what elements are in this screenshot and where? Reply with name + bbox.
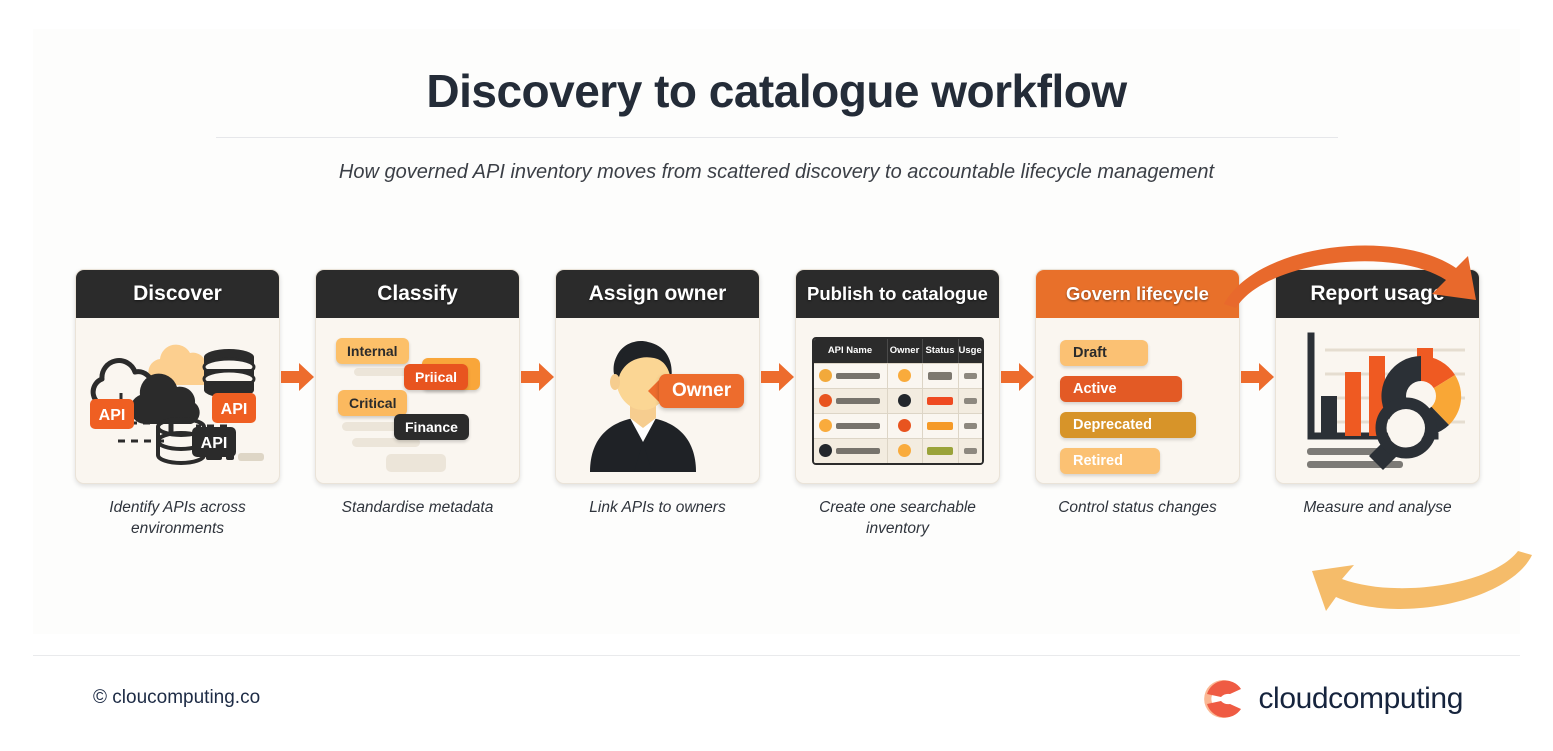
step-card: Govern lifecycle Draft Active Deprecated… (1035, 269, 1240, 484)
step-card: Assign owner (555, 269, 760, 484)
tag-placeholder (354, 368, 408, 376)
cell-owner (888, 439, 923, 463)
name-placeholder-bar (836, 398, 880, 404)
svg-text:API: API (200, 435, 227, 452)
owner-badge-group: Owner (648, 374, 744, 408)
arrow-right-icon (761, 362, 795, 392)
tag-finance[interactable]: Finance (394, 414, 469, 440)
connector-1 (280, 269, 315, 484)
tag-internal[interactable]: Internal (336, 338, 409, 364)
step-card: Classify Internal Priical Critical Finan… (315, 269, 520, 484)
usage-bar (964, 398, 977, 404)
avatar (898, 394, 911, 407)
step-govern-lifecycle: Govern lifecycle Draft Active Deprecated… (1035, 269, 1240, 519)
metadata-tags-icon: Internal Priical Critical Finance (324, 326, 511, 475)
workflow-steps: Discover (75, 269, 1480, 589)
step-discover: Discover (75, 269, 280, 540)
usage-bar (964, 423, 977, 429)
footer-divider (33, 655, 1520, 656)
logo-wordmark: cloudcomputing (1258, 682, 1463, 716)
step-illustration: API Name Owner Status Usge (796, 318, 999, 483)
column-header-owner: Owner (888, 339, 923, 363)
cell-usage (959, 389, 982, 413)
brand-logo: cloudcomputing (1197, 675, 1463, 723)
step-caption: Standardise metadata (315, 498, 520, 519)
status-badge (927, 422, 953, 430)
tag-critical[interactable]: Critical (338, 390, 407, 416)
title-divider (216, 137, 1338, 138)
usage-bar (964, 448, 977, 454)
step-illustration: API API API (76, 318, 279, 483)
status-badge (927, 447, 953, 455)
cell-api-name (814, 389, 888, 413)
cell-usage (959, 414, 982, 438)
lifecycle-status-icon: Draft Active Deprecated Retired (1044, 326, 1231, 475)
svg-text:API: API (98, 407, 125, 424)
cell-status (923, 389, 959, 413)
avatar (898, 419, 911, 432)
connector-4 (1000, 269, 1035, 484)
arrow-right-icon (1241, 362, 1275, 392)
step-card: Publish to catalogue API Name Owner Stat… (795, 269, 1000, 484)
step-title: Discover (76, 270, 279, 318)
column-header-status: Status (923, 339, 959, 363)
step-caption: Identify APIs across environments (75, 498, 280, 540)
status-dot (819, 394, 832, 407)
step-illustration: Internal Priical Critical Finance (316, 318, 519, 483)
tag-priical[interactable]: Priical (404, 364, 468, 390)
avatar (898, 369, 911, 382)
status-badge (928, 372, 952, 380)
analytics-chart-magnifier-icon (1285, 328, 1471, 474)
name-placeholder-bar (836, 373, 880, 379)
cell-api-name (814, 439, 888, 463)
lifecycle-bar-active[interactable]: Active (1060, 376, 1182, 402)
forward-loop-arrow (1218, 234, 1508, 314)
table-row[interactable] (814, 388, 982, 413)
step-classify: Classify Internal Priical Critical Finan… (315, 269, 520, 519)
table-row[interactable] (814, 413, 982, 438)
step-caption: Measure and analyse (1275, 498, 1480, 519)
cell-api-name (814, 414, 888, 438)
table-header-row: API Name Owner Status Usge (814, 339, 982, 363)
step-illustration (1276, 318, 1479, 483)
copyright-text: © cloucomputing.co (93, 687, 260, 709)
step-card: Discover (75, 269, 280, 484)
status-dot (819, 419, 832, 432)
tag-placeholder (386, 454, 446, 472)
step-illustration: Owner (556, 318, 759, 483)
name-placeholder-bar (836, 423, 880, 429)
usage-bar (964, 373, 977, 379)
step-title: Classify (316, 270, 519, 318)
content-panel: Discovery to catalogue workflow How gove… (33, 29, 1520, 634)
cell-status (923, 439, 959, 463)
column-header-api-name: API Name (814, 339, 888, 363)
catalogue-table-icon: API Name Owner Status Usge (812, 337, 984, 465)
cloud-database-api-icon: API API API (88, 331, 268, 471)
svg-text:API: API (220, 401, 247, 418)
lifecycle-bar-deprecated[interactable]: Deprecated (1060, 412, 1196, 438)
lifecycle-bar-draft[interactable]: Draft (1060, 340, 1148, 366)
connector-2 (520, 269, 555, 484)
arrow-right-icon (521, 362, 555, 392)
step-illustration: Draft Active Deprecated Retired (1036, 318, 1239, 483)
arrow-right-icon (281, 362, 315, 392)
cell-owner (888, 389, 923, 413)
step-caption: Control status changes (1035, 498, 1240, 519)
connector-3 (760, 269, 795, 484)
cell-status (923, 414, 959, 438)
page-title: Discovery to catalogue workflow (33, 64, 1520, 118)
status-dot (819, 369, 832, 382)
arrow-right-icon (1001, 362, 1035, 392)
column-header-usage: Usge (959, 339, 982, 363)
table-row[interactable] (814, 363, 982, 388)
logo-mark-icon (1197, 675, 1245, 723)
step-caption: Link APIs to owners (555, 498, 760, 519)
name-placeholder-bar (836, 448, 880, 454)
cell-status (923, 364, 959, 388)
avatar (898, 444, 911, 457)
cell-usage (959, 439, 982, 463)
cell-usage (959, 364, 982, 388)
table-row[interactable] (814, 438, 982, 463)
step-assign-owner: Assign owner (555, 269, 760, 519)
page-subtitle: How governed API inventory moves from sc… (33, 161, 1520, 184)
cell-owner (888, 414, 923, 438)
cell-owner (888, 364, 923, 388)
owner-badge[interactable]: Owner (659, 374, 744, 408)
step-title: Assign owner (556, 270, 759, 318)
step-title: Publish to catalogue (796, 270, 999, 318)
step-caption: Create one searchable inventory (795, 498, 1000, 540)
step-publish: Publish to catalogue API Name Owner Stat… (795, 269, 1000, 540)
infographic-page: Discovery to catalogue workflow How gove… (0, 0, 1553, 751)
lifecycle-bar-retired[interactable]: Retired (1060, 448, 1160, 474)
feedback-loop-arrow (1288, 549, 1538, 619)
step-title: Govern lifecycle (1036, 270, 1239, 318)
cell-api-name (814, 364, 888, 388)
status-dot (819, 444, 832, 457)
status-badge (927, 397, 953, 405)
